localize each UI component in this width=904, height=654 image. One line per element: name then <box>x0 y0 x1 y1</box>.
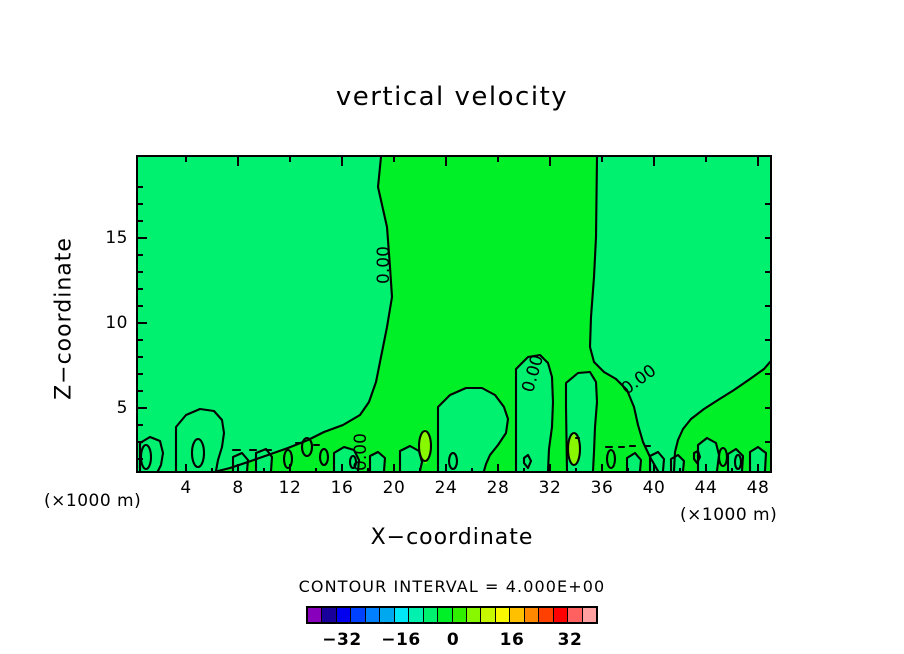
x-tick-minor <box>419 468 421 473</box>
x-tick-label: 20 <box>374 478 414 498</box>
x-tick-major <box>705 464 707 473</box>
x-tick-minor <box>471 468 473 473</box>
x-tick-minor <box>627 468 629 473</box>
y-tick-minor <box>138 186 143 188</box>
y-tick-minor <box>138 424 143 426</box>
top-tick-major <box>445 157 447 166</box>
x-tick-label: 16 <box>322 478 362 498</box>
colorbar-swatch-9 <box>438 608 452 622</box>
y-tick-label: 15 <box>88 228 128 248</box>
colorbar-swatch-19 <box>583 608 596 622</box>
top-tick-minor <box>393 157 395 162</box>
y-tick-minor <box>138 254 143 256</box>
colorbar-swatch-7 <box>409 608 423 622</box>
x-tick-major <box>601 464 603 473</box>
top-tick-major <box>549 157 551 166</box>
contour-field: 0.00 0.00 0.00 0.00 <box>138 157 770 471</box>
x-tick-major <box>341 464 343 473</box>
colorbar-swatch-10 <box>453 608 467 622</box>
x-tick-minor <box>575 468 577 473</box>
x-tick-major <box>757 464 759 473</box>
x-tick-minor <box>679 468 681 473</box>
x-tick-label: 40 <box>634 478 674 498</box>
colorbar-swatch-15 <box>525 608 539 622</box>
colorbar-swatch-17 <box>554 608 568 622</box>
top-tick-minor <box>289 157 291 162</box>
top-tick-major <box>237 157 239 166</box>
x-axis-units: (×1000 m) <box>680 505 777 525</box>
x-tick-major <box>653 464 655 473</box>
x-tick-label: 32 <box>530 478 570 498</box>
x-tick-major <box>185 464 187 473</box>
x-tick-minor <box>211 468 213 473</box>
x-tick-major <box>445 464 447 473</box>
colorbar-tick-label: −32 <box>317 630 367 650</box>
right-tick-minor <box>765 305 770 307</box>
contour-label-0: 0.00 <box>374 246 394 284</box>
x-tick-minor <box>731 468 733 473</box>
x-tick-label: 28 <box>478 478 518 498</box>
top-tick-major <box>653 157 655 166</box>
right-tick-minor <box>765 373 770 375</box>
y-tick-minor <box>138 390 143 392</box>
x-tick-minor <box>263 468 265 473</box>
top-tick-minor <box>185 157 187 162</box>
x-tick-major <box>549 464 551 473</box>
colorbar-swatch-4 <box>366 608 380 622</box>
x-tick-label: 48 <box>738 478 778 498</box>
plot-title: vertical velocity <box>0 82 904 112</box>
x-tick-major <box>237 464 239 473</box>
colorbar-swatch-11 <box>467 608 481 622</box>
x-tick-label: 36 <box>582 478 622 498</box>
right-tick-minor <box>765 271 770 273</box>
contour-label-1: 0.00 <box>351 433 371 471</box>
colorbar-tick-label: 0 <box>428 630 478 650</box>
right-tick-minor <box>765 339 770 341</box>
x-axis-title: X−coordinate <box>0 525 904 550</box>
colorbar-swatch-13 <box>496 608 510 622</box>
y-tick-label: 10 <box>88 313 128 333</box>
y-tick-minor <box>138 356 143 358</box>
x-tick-minor <box>367 468 369 473</box>
contour-interval-caption: CONTOUR INTERVAL = 4.000E+00 <box>0 577 904 596</box>
colorbar-swatch-2 <box>337 608 351 622</box>
colorbar-swatch-6 <box>395 608 409 622</box>
colorbar-tick-label: 16 <box>487 630 537 650</box>
y-tick-minor <box>138 220 143 222</box>
y-tick-minor <box>138 458 143 460</box>
x-tick-label: 24 <box>426 478 466 498</box>
y-tick-label: 5 <box>88 398 128 418</box>
x-tick-label: 44 <box>686 478 726 498</box>
y-tick-minor <box>138 305 143 307</box>
colorbar-swatch-0 <box>308 608 322 622</box>
colorbar-swatch-1 <box>322 608 336 622</box>
right-tick-minor <box>765 441 770 443</box>
colorbar-swatch-8 <box>424 608 438 622</box>
y-tick-minor <box>138 271 143 273</box>
x-tick-minor <box>315 468 317 473</box>
x-tick-label: 4 <box>166 478 206 498</box>
colorbar-swatch-12 <box>481 608 495 622</box>
x-tick-major <box>289 464 291 473</box>
y-axis-title: Z−coordinate <box>52 219 77 419</box>
right-tick-minor <box>765 237 770 239</box>
colorbar-swatch-14 <box>510 608 524 622</box>
x-tick-label: 8 <box>218 478 258 498</box>
x-tick-major <box>393 464 395 473</box>
colorbar-tick-label: −16 <box>376 630 426 650</box>
plot-area: 0.00 0.00 0.00 0.00 <box>136 155 772 473</box>
y-axis-units: (×1000 m) <box>44 491 141 511</box>
right-tick-minor <box>765 407 770 409</box>
top-tick-minor <box>497 157 499 162</box>
top-tick-major <box>341 157 343 166</box>
x-tick-major <box>497 464 499 473</box>
colorbar-swatch-3 <box>351 608 365 622</box>
y-tick-major <box>138 237 147 239</box>
colorbar-swatch-5 <box>380 608 394 622</box>
colorbar-tick-label: 32 <box>545 630 595 650</box>
y-tick-minor <box>138 288 143 290</box>
top-tick-major <box>757 157 759 166</box>
y-tick-major <box>138 322 147 324</box>
y-tick-minor <box>138 441 143 443</box>
colorbar <box>306 606 598 624</box>
top-tick-minor <box>601 157 603 162</box>
top-tick-minor <box>705 157 707 162</box>
y-tick-minor <box>138 203 143 205</box>
colorbar-swatch-18 <box>568 608 582 622</box>
right-tick-minor <box>765 203 770 205</box>
x-tick-minor <box>523 468 525 473</box>
y-tick-major <box>138 407 147 409</box>
colorbar-swatch-16 <box>539 608 553 622</box>
contour-figure: vertical velocity <box>0 0 904 654</box>
x-tick-label: 12 <box>270 478 310 498</box>
y-tick-minor <box>138 339 143 341</box>
y-tick-minor <box>138 373 143 375</box>
